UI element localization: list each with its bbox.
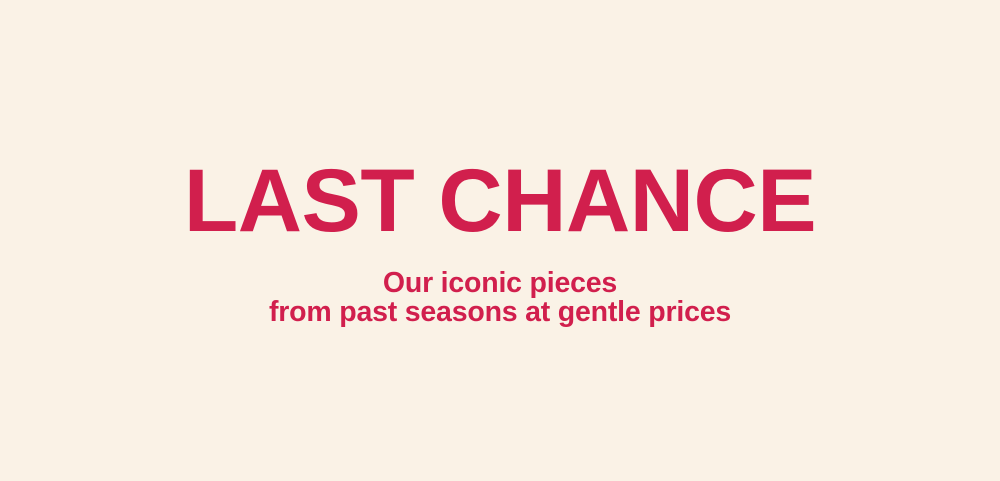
page-title: LAST CHANCE xyxy=(0,158,1000,243)
promo-banner: LAST CHANCE Our iconic pieces from past … xyxy=(0,0,1000,481)
banner-subtitle: Our iconic pieces from past seasons at g… xyxy=(0,243,1000,327)
banner-subtitle-line-2: from past seasons at gentle prices xyxy=(0,298,1000,327)
banner-content: LAST CHANCE Our iconic pieces from past … xyxy=(0,158,1000,327)
banner-subtitle-line-1: Our iconic pieces xyxy=(0,269,1000,298)
